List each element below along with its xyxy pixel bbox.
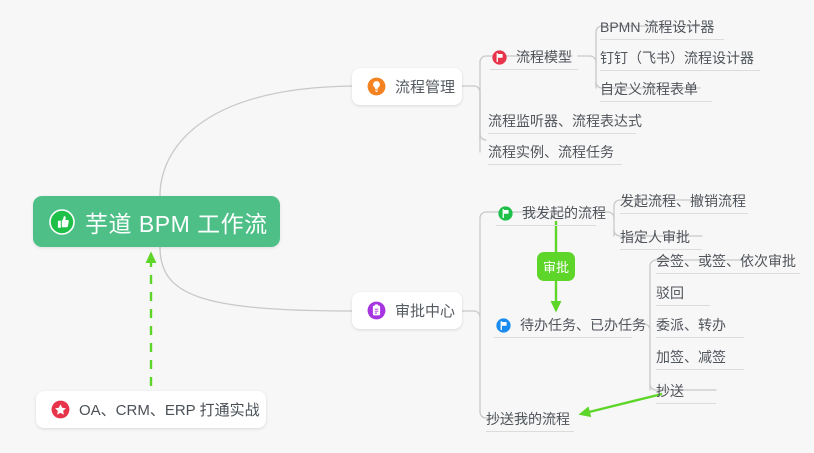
leaf-assignee-approval[interactable]: 指定人审批 [620,224,702,250]
flow-arrow-cc [581,394,662,414]
flag-icon-red [492,50,507,65]
flag-icon-green [498,206,513,221]
leaf-bpmn-designer[interactable]: BPMN 流程设计器 [600,14,724,40]
leaf-label: BPMN 流程设计器 [600,19,714,35]
leaf-label: 抄送 [656,383,684,399]
leaf-label: 钉钉（飞书）流程设计器 [600,50,754,66]
leaf-label: 流程模型 [516,49,572,65]
leaf-label: 加签、减签 [656,349,726,365]
leaf-label: 委派、转办 [656,317,726,333]
leaf-countersign[interactable]: 会签、或签、依次审批 [656,248,800,274]
leaf-label: 指定人审批 [620,229,690,245]
footer-node-label: OA、CRM、ERP 打通实战 [79,399,260,420]
branch-label-approve-center: 审批中心 [395,300,455,321]
leaf-cc[interactable]: 抄送 [656,378,716,404]
root-label: 芋道 BPM 工作流 [85,205,268,239]
leaf-label: 我发起的流程 [522,205,606,221]
branch-label-process-mgmt: 流程管理 [395,76,455,97]
mindmap-canvas: 芋道 BPM 工作流 流程管理 审批中心 [0,0,814,453]
leaf-process-listener[interactable]: 流程监听器、流程表达式 [488,108,636,134]
leaf-label: 抄送我的流程 [486,411,570,427]
flag-icon-blue [496,318,511,333]
leaf-label: 流程实例、流程任务 [488,144,614,160]
thumbs-up-icon [49,209,75,235]
lightbulb-icon [367,77,386,96]
leaf-process-model[interactable]: 流程模型 [490,44,578,70]
leaf-dingtalk-designer[interactable]: 钉钉（飞书）流程设计器 [600,45,760,71]
flow-badge-label: 审批 [543,257,569,276]
leaf-label: 会签、或签、依次审批 [656,253,796,269]
leaf-label: 待办任务、已办任务 [520,317,646,333]
star-icon [51,400,70,419]
footer-node-integration[interactable]: OA、CRM、ERP 打通实战 [36,391,266,428]
branch-node-process-mgmt[interactable]: 流程管理 [352,68,462,105]
leaf-todo-done[interactable]: 待办任务、已办任务 [494,312,632,338]
root-node[interactable]: 芋道 BPM 工作流 [33,196,280,247]
leaf-label: 驳回 [656,285,684,301]
flow-badge-approve[interactable]: 审批 [537,252,575,281]
leaf-label: 自定义流程表单 [600,81,698,97]
leaf-custom-form[interactable]: 自定义流程表单 [600,76,712,102]
leaf-reject[interactable]: 驳回 [656,280,710,306]
leaf-add-remove-sign[interactable]: 加签、减签 [656,344,744,370]
branch-node-approve-center[interactable]: 审批中心 [352,292,462,329]
leaf-start-cancel-flow[interactable]: 发起流程、撤销流程 [620,188,748,214]
leaf-process-instance[interactable]: 流程实例、流程任务 [488,139,622,165]
leaf-delegate-transfer[interactable]: 委派、转办 [656,312,744,338]
leaf-label: 流程监听器、流程表达式 [488,113,642,129]
leaf-label: 发起流程、撤销流程 [620,193,746,209]
leaf-cc-to-me[interactable]: 抄送我的流程 [486,406,574,432]
clipboard-icon [367,301,386,320]
leaf-my-started[interactable]: 我发起的流程 [496,200,596,226]
